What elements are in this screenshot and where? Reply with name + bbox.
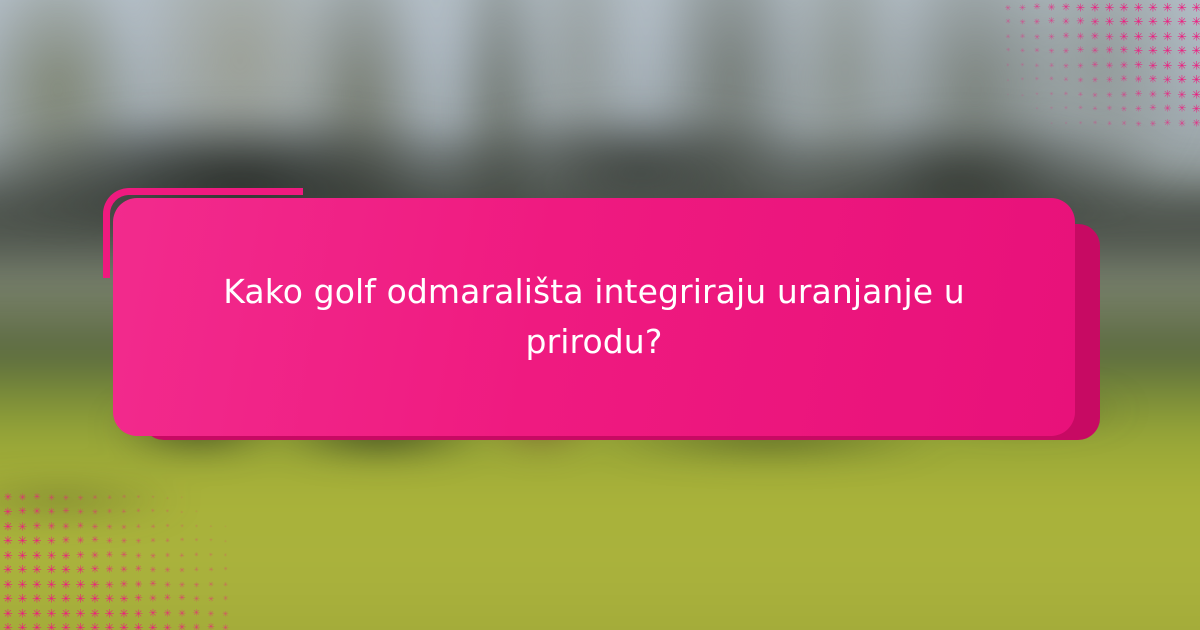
share-card-canvas: ✳✳✳✳✳✳✳✳✳✳✳✳✳✳✳✳✳✳✳✳✳✳✳✳✳✳✳✳✳✳✳✳✳✳✳✳✳✳✳✳… bbox=[0, 0, 1200, 630]
title-card: Kako golf odmarališta integriraju uranja… bbox=[113, 198, 1075, 436]
page-title: Kako golf odmarališta integriraju uranja… bbox=[205, 267, 983, 367]
